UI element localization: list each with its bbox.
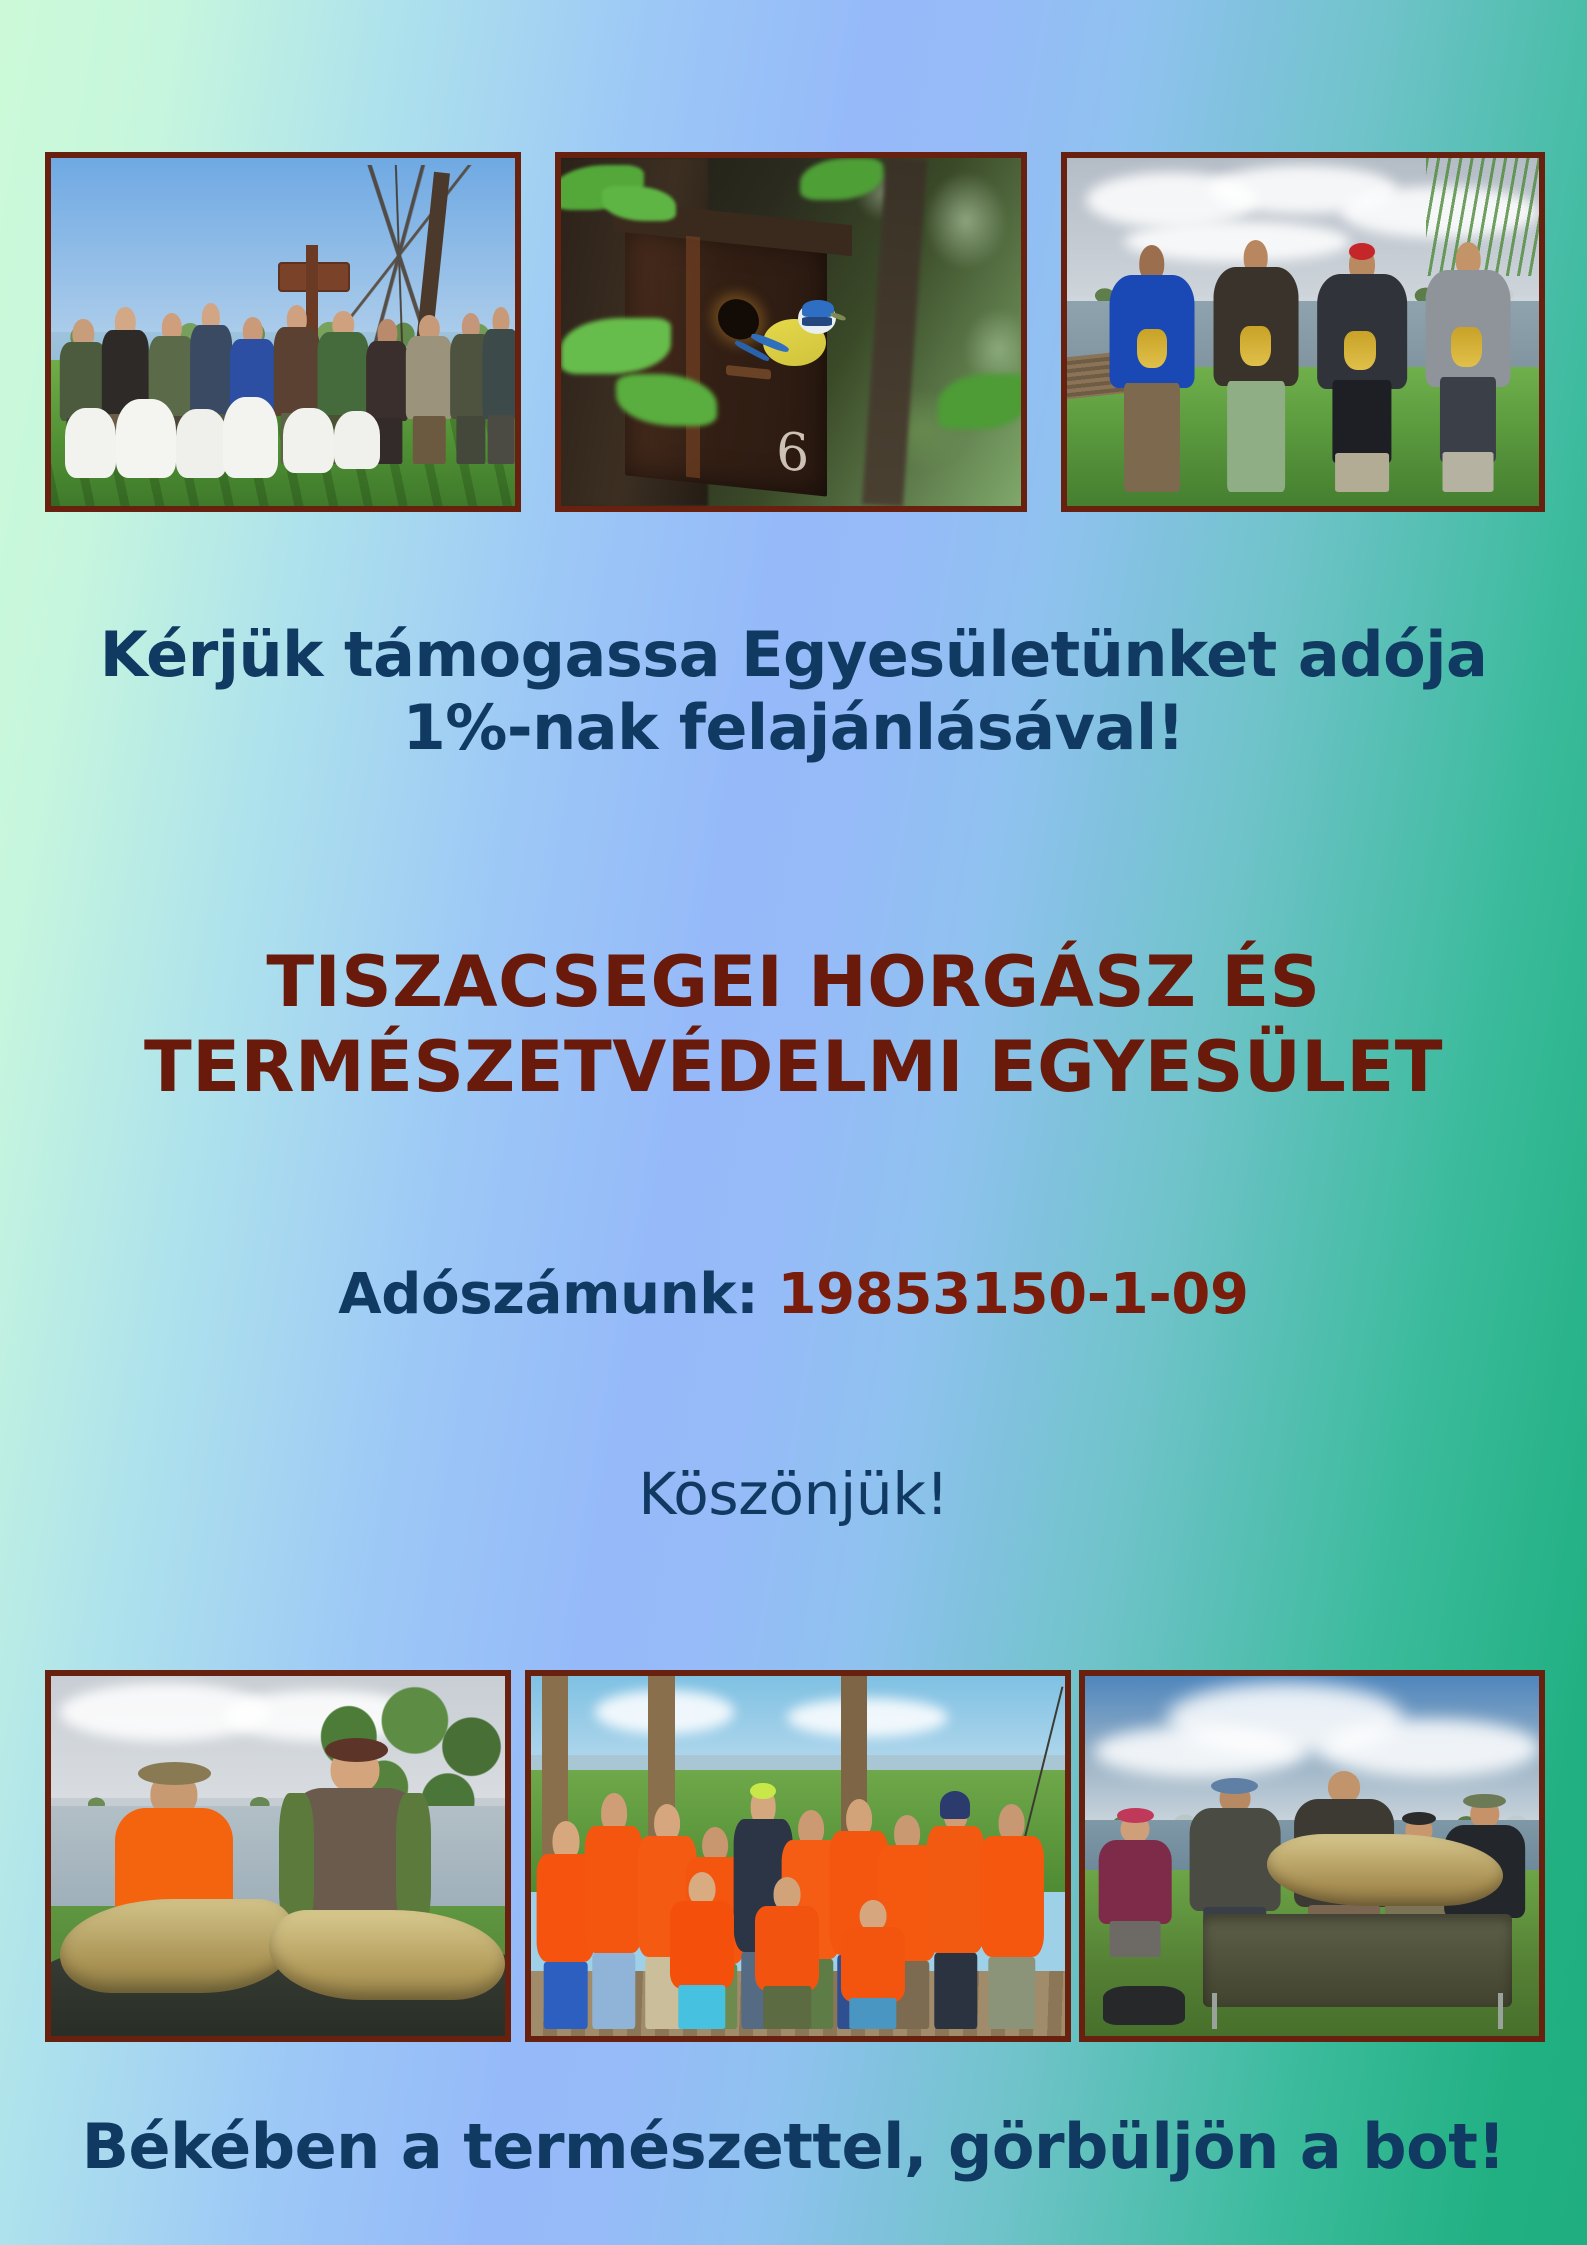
slogan-text: Békében a természettel, görbüljön a bot! — [0, 2110, 1587, 2183]
cradle-leg — [1498, 1993, 1503, 2029]
family-carp-photo — [1079, 1670, 1545, 2042]
tax-label: Adószámunk: — [338, 1262, 758, 1327]
winners-row — [1067, 235, 1539, 493]
trophy — [1344, 331, 1376, 370]
bucket-hat — [138, 1762, 211, 1785]
child — [926, 1793, 985, 2029]
person — [1213, 240, 1298, 492]
top-photo-row: 6 — [45, 152, 1545, 512]
nest-box-blue-tit-photo: 6 — [555, 152, 1027, 512]
trophy — [1451, 327, 1482, 367]
hair — [325, 1738, 388, 1762]
org-line-2: TERMÉSZETVÉDELMI EGYESÜLET — [0, 1025, 1587, 1110]
collection-bags — [51, 388, 515, 478]
lead-line-1: Kérjük támogassa Egyesületünket adója — [0, 618, 1587, 691]
child — [670, 1872, 734, 2029]
thanks-text: Köszönjük! — [0, 1460, 1587, 1528]
organization-title: TISZACSEGEI HORGÁSZ ÉS TERMÉSZETVÉDELMI … — [0, 940, 1587, 1111]
carp-catch-couple-photo — [45, 1670, 511, 2042]
cap — [1402, 1812, 1436, 1825]
children-group — [531, 1748, 1065, 2029]
child — [841, 1900, 905, 2029]
tax-number: 19853150-1-09 — [778, 1262, 1249, 1327]
org-line-1: TISZACSEGEI HORGÁSZ ÉS — [0, 940, 1587, 1025]
unhooking-cradle — [1203, 1914, 1512, 2008]
child — [980, 1804, 1044, 2029]
child — [755, 1877, 819, 2029]
lead-text-block: Kérjük támogassa Egyesületünket adója 1%… — [0, 618, 1587, 764]
child — [584, 1793, 643, 2029]
tackle-bag — [1103, 1986, 1185, 2026]
volunteer-cleanup-photo — [45, 152, 521, 512]
child — [1099, 1808, 1172, 1957]
lead-line-2: 1%-nak felajánlásával! — [0, 691, 1587, 764]
hood — [940, 1791, 969, 1819]
pink-cap — [1117, 1808, 1153, 1823]
green-cap — [1463, 1794, 1505, 1809]
person — [1109, 245, 1194, 492]
person — [1426, 242, 1511, 492]
red-cap — [1349, 243, 1376, 260]
carp-fish — [1267, 1834, 1503, 1906]
tax-number-line: Adószámunk: 19853150-1-09 — [0, 1262, 1587, 1327]
foreground-leaves — [561, 158, 1021, 506]
trophy — [1137, 329, 1168, 369]
carp-fish — [60, 1899, 296, 1993]
bottom-photo-row — [45, 1670, 1545, 2042]
trophy — [1240, 326, 1271, 366]
person — [1317, 247, 1407, 492]
angling-competition-winners-photo — [1061, 152, 1545, 512]
cradle-leg — [1212, 1993, 1217, 2029]
youth-camp-photo — [525, 1670, 1071, 2042]
cap — [1211, 1778, 1258, 1794]
